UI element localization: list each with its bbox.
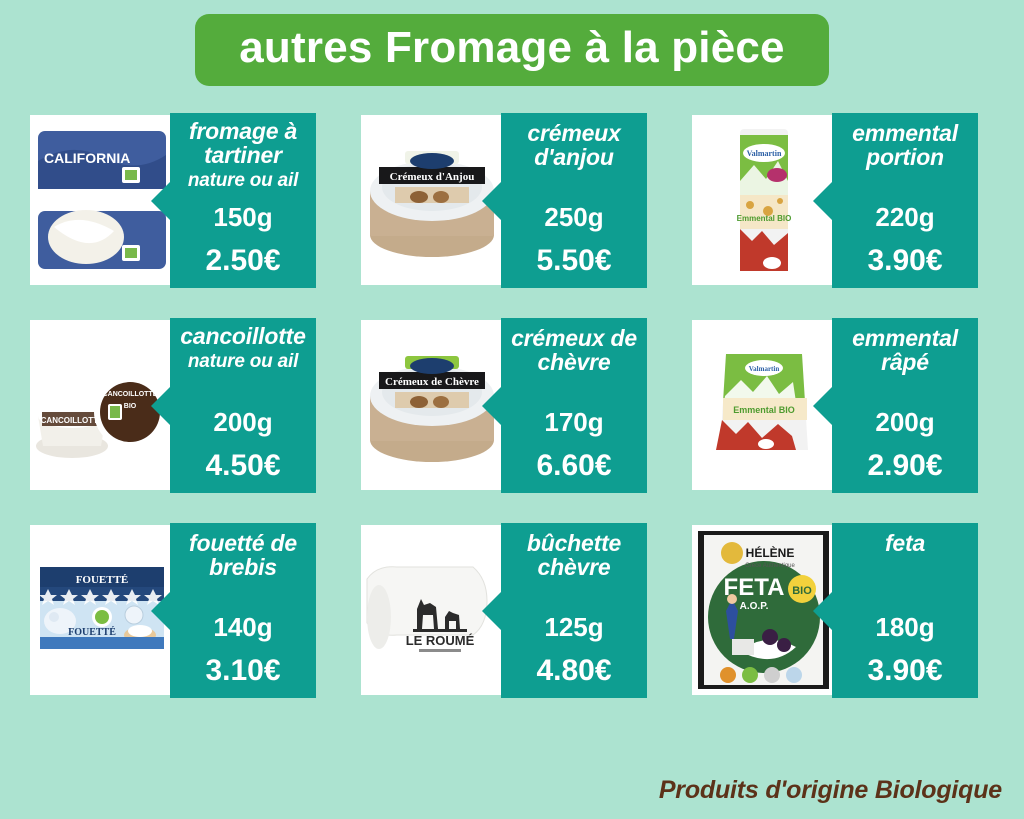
product-card[interactable]: ValmartinEmmental BIOemmental portion220…	[692, 113, 978, 288]
product-name: crémeux de chèvre	[506, 326, 642, 374]
product-card[interactable]: HÉLÈNEGrèce AuthentiqueFETAA.O.P.BIOfeta…	[692, 523, 978, 698]
svg-text:A.O.P.: A.O.P.	[740, 601, 769, 612]
product-card[interactable]: FOUETTÉFOUETTÉfouetté de brebis140g3.10€	[30, 523, 316, 698]
svg-text:Emmental BIO: Emmental BIO	[733, 405, 795, 415]
svg-text:Crémeux de Chèvre: Crémeux de Chèvre	[385, 376, 479, 388]
product-card[interactable]: CANCOILLOTTECANCOILLOTTEBIOcancoillotten…	[30, 318, 316, 493]
product-card[interactable]: Crémeux de Chèvrecrémeux de chèvre170g6.…	[361, 318, 647, 493]
product-weight: 170g	[506, 409, 642, 435]
product-price: 3.10€	[175, 656, 311, 686]
product-card[interactable]: CALIFORNIAfromage à tartinernature ou ai…	[30, 113, 316, 288]
svg-text:Grèce Authentique: Grèce Authentique	[745, 563, 795, 569]
product-variant: nature ou ail	[188, 352, 298, 372]
product-info-panel: cancoillottenature ou ail200g4.50€	[170, 318, 316, 493]
svg-text:Valmartin: Valmartin	[747, 149, 782, 158]
product-info-panel: crémeux de chèvre170g6.60€	[501, 318, 647, 493]
product-name: feta	[885, 531, 925, 555]
product-info-panel: crémeux d'anjou250g5.50€	[501, 113, 647, 288]
product-info-panel: bûchette chèvre125g4.80€	[501, 523, 647, 698]
product-weight: 150g	[175, 204, 311, 230]
panel-arrow-icon	[813, 181, 833, 221]
svg-text:FOUETTÉ: FOUETTÉ	[68, 626, 116, 638]
panel-arrow-icon	[482, 591, 502, 631]
product-name: emmental portion	[837, 121, 973, 169]
svg-text:CALIFORNIA: CALIFORNIA	[44, 150, 130, 166]
panel-arrow-icon	[813, 591, 833, 631]
product-card[interactable]: LE ROUMÉbûchette chèvre125g4.80€	[361, 523, 647, 698]
svg-text:BIO: BIO	[124, 403, 137, 410]
product-price: 4.80€	[506, 656, 642, 686]
svg-text:LE ROUMÉ: LE ROUMÉ	[406, 633, 475, 648]
product-price: 2.90€	[837, 451, 973, 481]
footer-note: Produits d'origine Biologique	[659, 776, 1002, 805]
product-info-panel: fromage à tartinernature ou ail150g2.50€	[170, 113, 316, 288]
svg-text:CANCOILLOTTE: CANCOILLOTTE	[103, 391, 158, 398]
title-banner-wrapper: autres Fromage à la pièce	[0, 14, 1024, 86]
product-weight: 200g	[175, 409, 311, 435]
svg-text:Valmartin: Valmartin	[749, 365, 780, 373]
panel-arrow-icon	[482, 386, 502, 426]
product-name: fromage à tartiner	[175, 119, 311, 167]
product-weight: 220g	[837, 204, 973, 230]
panel-arrow-icon	[482, 181, 502, 221]
product-price: 6.60€	[506, 451, 642, 481]
product-name: cancoillotte	[180, 324, 305, 348]
product-weight: 140g	[175, 614, 311, 640]
product-name: fouetté de brebis	[175, 531, 311, 579]
product-name: bûchette chèvre	[506, 531, 642, 579]
product-variant: nature ou ail	[188, 171, 298, 191]
product-price: 2.50€	[175, 246, 311, 276]
product-grid: CALIFORNIAfromage à tartinernature ou ai…	[30, 113, 978, 698]
product-weight: 125g	[506, 614, 642, 640]
title-banner: autres Fromage à la pièce	[195, 14, 828, 86]
product-info-panel: fouetté de brebis140g3.10€	[170, 523, 316, 698]
panel-arrow-icon	[813, 386, 833, 426]
product-price: 4.50€	[175, 451, 311, 481]
product-price: 5.50€	[506, 246, 642, 276]
svg-text:BIO: BIO	[792, 585, 812, 597]
svg-text:Emmental BIO: Emmental BIO	[737, 214, 792, 223]
panel-arrow-icon	[151, 591, 171, 631]
svg-text:HÉLÈNE: HÉLÈNE	[746, 545, 795, 560]
panel-arrow-icon	[151, 386, 171, 426]
product-info-panel: emmental râpé200g2.90€	[832, 318, 978, 493]
product-card[interactable]: Crémeux d'Anjoucrémeux d'anjou250g5.50€	[361, 113, 647, 288]
product-price: 3.90€	[837, 246, 973, 276]
product-info-panel: emmental portion220g3.90€	[832, 113, 978, 288]
product-weight: 180g	[837, 614, 973, 640]
page-title: autres Fromage à la pièce	[239, 22, 784, 74]
svg-text:Crémeux d'Anjou: Crémeux d'Anjou	[390, 171, 475, 183]
product-card[interactable]: ValmartinEmmental BIOemmental râpé200g2.…	[692, 318, 978, 493]
panel-arrow-icon	[151, 181, 171, 221]
product-weight: 250g	[506, 204, 642, 230]
svg-text:FOUETTÉ: FOUETTÉ	[76, 574, 129, 586]
product-name: emmental râpé	[837, 326, 973, 374]
product-weight: 200g	[837, 409, 973, 435]
product-info-panel: feta180g3.90€	[832, 523, 978, 698]
price-list-poster: autres Fromage à la pièce CALIFORNIAfrom…	[0, 0, 1024, 819]
product-name: crémeux d'anjou	[506, 121, 642, 169]
product-price: 3.90€	[837, 656, 973, 686]
